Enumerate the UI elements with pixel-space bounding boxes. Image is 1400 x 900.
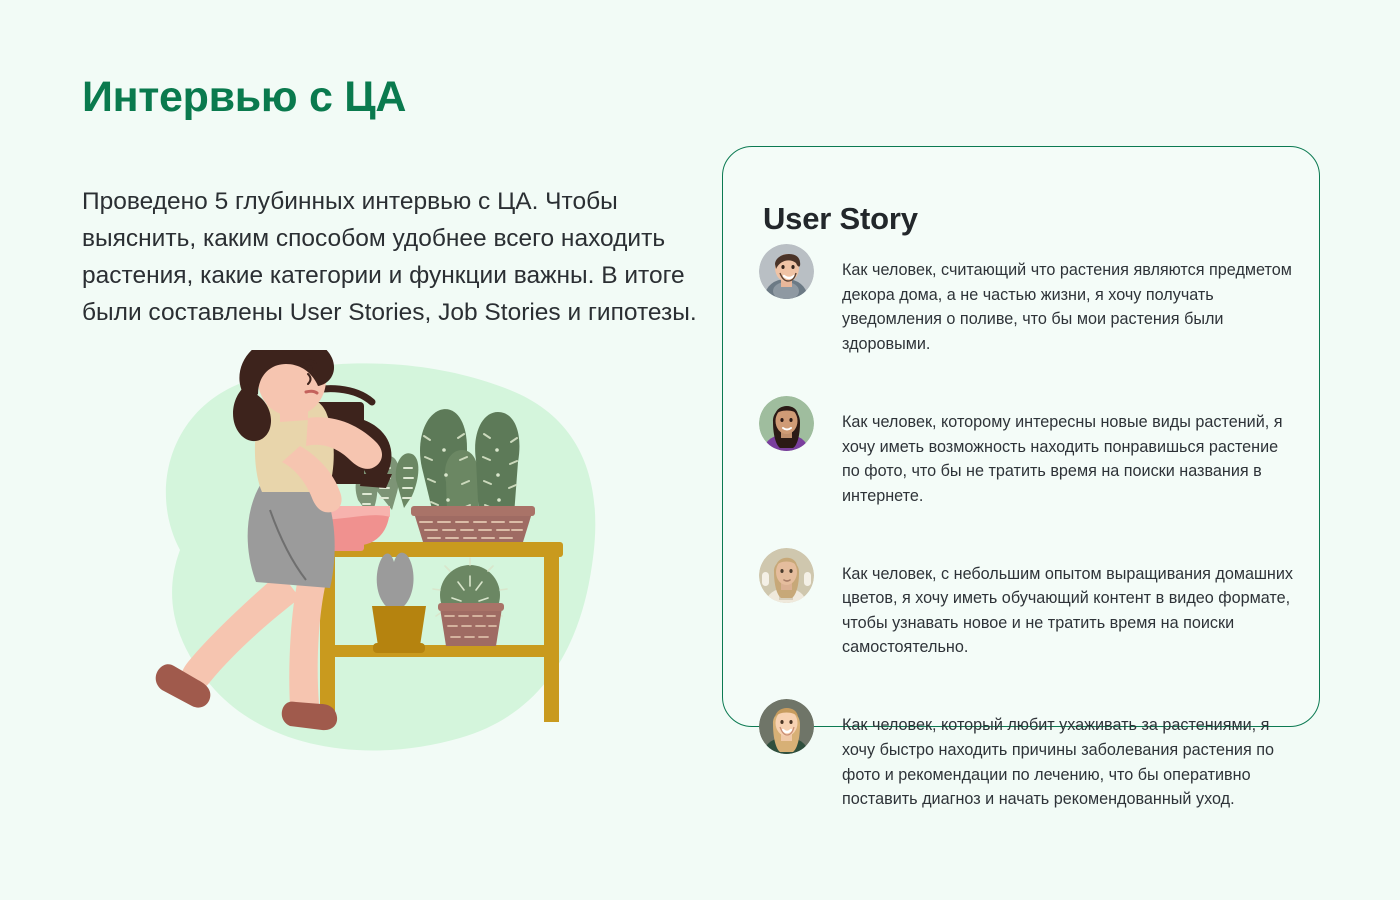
list-item: Как человек, которому интересны новые ви…: [759, 394, 1295, 525]
slide-root: Интервью с ЦА Проведено 5 глубинных инте…: [0, 0, 1400, 900]
story-text: Как человек, который любит ухаживать за …: [842, 713, 1294, 811]
avatar-man-grey-background: [759, 244, 814, 299]
avatar-woman-purple-top: [759, 396, 814, 451]
story-text: Как человек, которому интересны новые ви…: [842, 410, 1294, 508]
list-item: Как человек, с небольшим опытом выращива…: [759, 546, 1295, 677]
story-text: Как человек, с небольшим опытом выращива…: [842, 562, 1294, 660]
page-title: Интервью с ЦА: [82, 73, 406, 122]
woman-watering-plants-illustration: [140, 350, 610, 760]
avatar-woman-white-shirt: [759, 548, 814, 603]
user-story-list: Как человек, считающий что растения явля…: [759, 242, 1295, 828]
avatar-woman-green-top: [759, 699, 814, 754]
intro-paragraph: Проведено 5 глубинных интервью с ЦА. Что…: [82, 183, 712, 331]
story-text: Как человек, считающий что растения явля…: [842, 258, 1294, 356]
list-item: Как человек, который любит ухаживать за …: [759, 697, 1295, 828]
card-title: User Story: [763, 201, 918, 237]
list-item: Как человек, считающий что растения явля…: [759, 242, 1295, 373]
user-story-card: User Story: [722, 146, 1320, 727]
